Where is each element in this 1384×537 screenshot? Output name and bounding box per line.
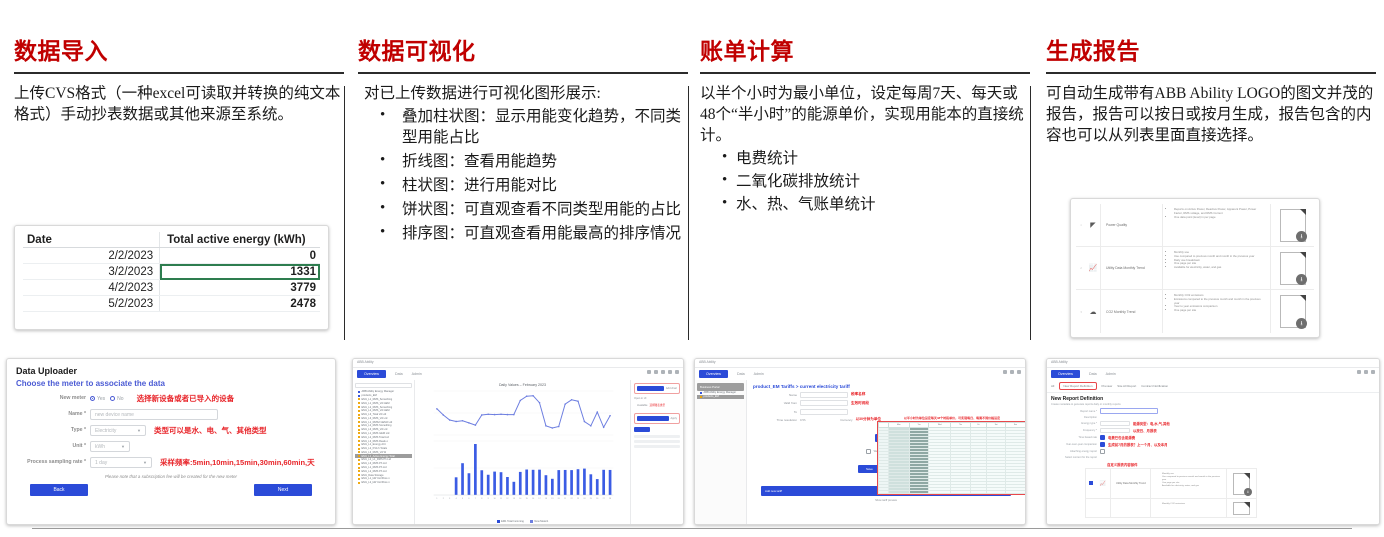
svg-text:5: 5 [462, 498, 464, 500]
report-description: Monthly CO2 emissions Emissions compared… [1162, 290, 1270, 333]
report-def-title: New Report Definition [1051, 396, 1379, 402]
tab-admin[interactable]: Admin [412, 372, 422, 376]
checkbox-select-row[interactable] [1086, 481, 1096, 486]
folder-icon [358, 391, 360, 393]
svg-text:23: 23 [577, 498, 580, 500]
tab-data[interactable]: Data [1089, 372, 1097, 376]
tree-item-label: EM1_L2_RMS Something [362, 424, 392, 427]
cell-energy: 2478 [160, 296, 320, 312]
energy-type-select[interactable] [1100, 421, 1130, 426]
svg-text:8: 8 [481, 498, 483, 500]
svg-text:20: 20 [558, 498, 561, 500]
tree-item-label: EM1_L2_RMS Total Ltd [362, 436, 389, 439]
label-currency: Currency [808, 418, 852, 422]
paragraph-generate-report: 可自动生成带有ABB Ability LOGO的图文并茂的报告，报告可以按日或按… [1046, 83, 1376, 146]
label-frequency: Frequency * [1051, 429, 1097, 432]
svg-text:15: 15 [526, 498, 529, 500]
datapoint-icon [358, 414, 360, 416]
tab-overview[interactable]: Overview [699, 370, 728, 378]
svg-text:16: 16 [532, 498, 535, 500]
svg-text:6: 6 [468, 498, 470, 500]
chevron-down-icon: ▼ [143, 460, 147, 465]
tab-data[interactable]: Data [395, 372, 403, 376]
label-attaching-report: Attaching energy report [1051, 450, 1097, 453]
table-row: 4/2/2023 3779 [23, 280, 320, 296]
report-thumbnail[interactable] [1226, 499, 1256, 517]
column-divider-3 [1030, 86, 1031, 340]
datapoint-icon [358, 432, 360, 434]
datapoint-icon [358, 478, 360, 480]
tab-overview[interactable]: Overview [357, 370, 386, 378]
uploader-actions: Back Next [16, 484, 326, 496]
table-row[interactable]: 2 📈 Utility Data Monthly Trend Monthly u… [1076, 247, 1314, 290]
svg-text:4: 4 [456, 498, 458, 500]
app-brand: ABB Ability [699, 360, 716, 364]
cell-energy: 0 [160, 248, 320, 264]
subscription-note: Please note that a subscription fee will… [16, 474, 326, 479]
power-quality-icon: ◤ [1086, 221, 1100, 229]
tariff-app: ABB Ability Overview Data Admin Business… [695, 359, 1025, 524]
chart-type-box[interactable]: Apply [634, 413, 680, 424]
form-row-frequency: Frequency * 以按日、月报表 [1051, 428, 1379, 433]
tariff-sidebar[interactable]: Business Portal ABB Ability Energy Manag… [695, 380, 747, 524]
tab-overview[interactable]: Overview [1051, 370, 1080, 378]
annotation-chart-type: 选择图表类型 [649, 403, 665, 407]
table-row[interactable]: 3 ☁ CO2 Monthly Trend Monthly CO2 emissi… [1076, 290, 1314, 333]
report-description: Reports on Active Power, Reactive Power,… [1162, 204, 1270, 246]
report-thumbnail[interactable]: ⭳ [1270, 204, 1314, 246]
download-icon[interactable]: ⭳ [1296, 318, 1307, 329]
data-uploader-screenshot: Data Uploader Choose the meter to associ… [6, 358, 336, 525]
available-label: Available [637, 404, 647, 407]
label-unit: Unit * [16, 443, 90, 450]
form-row-yoy-comparison: Year-over-year comparison 生成前7月的报表？上一个月、… [1051, 442, 1379, 447]
settings-icon[interactable] [1357, 370, 1361, 374]
svg-text:3: 3 [449, 498, 451, 500]
svg-text:26: 26 [596, 498, 599, 500]
label-time-resolution: Time resolution [753, 418, 797, 422]
svg-text:25: 25 [590, 498, 593, 500]
tree-group-label: products_EM [704, 395, 719, 398]
page-title-data-import: 数据导入 [14, 38, 344, 66]
report-thumbnail[interactable]: ⭳ [1226, 469, 1256, 498]
form-row-sampling-rate: Process sampling rate * 1 day ▼ 采样频率:5mi… [16, 457, 326, 468]
grid-cell[interactable] [950, 491, 970, 494]
tree-item-label: EM1_L1_RMS_Something [362, 398, 393, 401]
heading-divider [700, 72, 1030, 74]
chart-panel: Daily Values – February 2023 12345678910… [415, 380, 631, 524]
checkbox-attaching-report[interactable] [1100, 449, 1105, 454]
report-def-app: ABB Ability Overview Data Admin All New … [1047, 359, 1379, 524]
add-chart-label: Add chart [666, 387, 677, 390]
list-item: One data point (level) in per page [1174, 216, 1265, 220]
form-row-name: Name * new device name [16, 409, 326, 420]
app-body: Business Portal ABB Ability Energy Manag… [695, 380, 1025, 524]
row-number: 3 [1076, 310, 1086, 314]
list-item: 饼状图：可直观查看不同类型用能的占比 [380, 199, 688, 220]
radio-new-meter-yes[interactable] [90, 396, 95, 401]
app-body: ABB Ability Energy Manager products_EM E… [353, 380, 683, 524]
report-def-subtitle: Create metadata to generate reports dail… [1051, 403, 1379, 406]
label-sampling-rate: Process sampling rate * [16, 459, 90, 466]
tariff-field-row: Name 税率名称 [753, 392, 1019, 398]
column-header-date: Date [23, 232, 160, 248]
grid-cell[interactable] [888, 491, 909, 494]
datapoint-icon [358, 398, 360, 400]
app-toolbar-icons [1357, 370, 1375, 374]
datapoint-icon [358, 410, 360, 412]
next-button[interactable]: Next [254, 484, 312, 496]
add-chart-button[interactable] [637, 386, 664, 391]
unit-select[interactable]: kWh ▼ [90, 441, 130, 452]
tree-root-label: ABB Ability Energy Manager [704, 391, 737, 394]
heading-divider [14, 72, 344, 74]
uploader-subtitle: Choose the meter to associate the data [16, 379, 326, 388]
tree-item[interactable]: EM1_L2_kW Usr/Poss n [355, 481, 412, 485]
legend-swatch [497, 520, 500, 523]
svg-text:18: 18 [545, 498, 548, 500]
svg-text:2: 2 [443, 498, 444, 500]
tree-item-list: EM1_L1_RMS_SomethingEM1_L1_RMS_VA GEMEM1… [355, 398, 412, 485]
svg-text:11: 11 [500, 498, 502, 500]
tab-admin[interactable]: Admin [1106, 372, 1116, 376]
report-name-input[interactable] [1100, 408, 1158, 414]
report-name: Utility Data Monthly Trend [1110, 469, 1150, 498]
radio-label-no: No [117, 396, 123, 402]
grid-cell[interactable] [909, 491, 929, 494]
datapoint-icon [358, 474, 360, 476]
tariff-configuration-screenshot: ABB Ability Overview Data Admin Business… [694, 358, 1026, 525]
tariff-main: product_EM Tariffs > current electricity… [747, 380, 1025, 524]
grid-cell[interactable] [929, 491, 951, 494]
list-item: One page per site [1174, 309, 1265, 313]
combo-chart-svg: 1234567891011121314151617181920212223242… [420, 387, 625, 505]
tariff-title: product_EM Tariffs > current electricity… [753, 384, 1019, 389]
annotation-halfhour-grid: 以半小时为单位设定每天48个时段单价，可实现每日、每周不同价格设定 [877, 416, 1026, 420]
tariff-grid[interactable]: MonTueWedThuFriSatSun [877, 421, 1026, 495]
form-row-report-name: Report name * [1051, 408, 1379, 414]
column-bill-calculation: 账单计算 以半个小时为最小单位，设定每周7天、每天或48个“半小时”的能源单价，… [700, 38, 1030, 217]
label-description: Description [1051, 416, 1097, 419]
app-header: ABB Ability [1047, 359, 1379, 368]
datapoint-icon [358, 470, 360, 472]
trend-chart-icon: 📈 [1086, 264, 1100, 272]
back-button[interactable]: Back [30, 484, 88, 496]
svg-text:13: 13 [513, 498, 516, 500]
list-item: Available for electricity, water, and ga… [1162, 485, 1221, 488]
tab-all[interactable]: All [1051, 384, 1054, 388]
show-tariff-preview-link[interactable]: Show tariff preview [753, 499, 1019, 502]
excel-data-preview: Date Total active energy (kWh) 2/2/2023 … [14, 225, 329, 330]
tree-search-input[interactable] [355, 383, 412, 388]
bullet-list-visualization: 叠加柱状图：显示用能变化趋势，不同类型用能占比 折线图：查看用能趋势 柱状图：进… [358, 106, 688, 244]
annotation-yoy-comparison: 生成前7月的报表？上一个月、以及本月 [1108, 442, 1168, 447]
tree-item-label: EM1_L3_RMS_VA Ltd [362, 417, 388, 420]
list-item: 电费统计 [722, 148, 1030, 169]
report-catalog-screenshot: 1 ◤ Power Quality Reports on Active Powe… [1070, 198, 1320, 338]
form-row-time-based-rate: Time based rate 电费已包含能源费 [1051, 435, 1379, 440]
grid-icon[interactable] [661, 370, 665, 374]
svg-text:24: 24 [583, 498, 586, 500]
unit-value: kWh [95, 444, 105, 450]
report-name [1110, 499, 1150, 517]
available-row: Available 选择图表类型 [634, 400, 680, 410]
label-type: Type * [16, 427, 90, 434]
label-time-based-rate: Time based rate [1051, 436, 1097, 439]
tree-item-label: EM1_L2_RMS_VA GEM [362, 409, 390, 412]
tree-item-label: EM1_L2_RMS Ph Ltd [362, 470, 387, 473]
list-item: 折线图：查看用能趋势 [380, 151, 688, 172]
tree-item-label: EM1_L1_RMS Ph Ltd [362, 466, 387, 469]
table-row: 5/2/2023 2478 [23, 296, 320, 312]
folder-icon [358, 395, 360, 397]
chart-app: ABB Ability Overview Data Admin [353, 359, 683, 524]
valid-from-input[interactable] [800, 400, 848, 406]
label-new-meter: New meter [16, 395, 90, 402]
column-generate-report: 生成报告 可自动生成带有ABB Ability LOGO的图文并茂的报告，报告可… [1046, 38, 1376, 146]
report-thumbnail[interactable]: ⭳ [1270, 290, 1314, 333]
label-valid-from: Valid from [753, 401, 797, 405]
checkbox-time-based-rate[interactable] [1100, 435, 1105, 440]
cell-date: 3/2/2023 [23, 264, 160, 280]
tariff-grid-wrapper: 以半小时为单位设定每天48个时段单价，可实现每日、每周不同价格设定 MonTue… [877, 416, 1026, 495]
list-item: Monthly CO2 emissions [1162, 503, 1221, 506]
svg-text:28: 28 [609, 498, 612, 500]
tab-site-all-report[interactable]: Site All Report [1117, 384, 1136, 388]
valid-to-input[interactable] [800, 409, 848, 415]
grid-cell[interactable] [970, 491, 987, 494]
tree-item-label: EM1_L3_Total VA Ltd [362, 413, 387, 416]
report-description: Monthly use Use compared to previous mon… [1162, 247, 1270, 289]
form-row-new-meter: New meter Yes No 选择新设备或者已导入的设备 [16, 393, 326, 404]
app-header: ABB Ability [353, 359, 683, 368]
tree-item-label: EM1_L2_KVA h Totals [362, 447, 388, 450]
column-divider-1 [344, 86, 345, 340]
grid-cell[interactable] [879, 491, 889, 494]
datapoint-icon [358, 448, 360, 450]
option-row [634, 435, 680, 438]
chart-type-selected[interactable] [637, 416, 669, 421]
report-thumbnail[interactable]: ⭳ [1270, 247, 1314, 289]
svg-text:9: 9 [488, 498, 489, 500]
cell-energy-selected[interactable]: 1331 [160, 264, 320, 280]
chart-icon[interactable] [1010, 370, 1014, 374]
apply-label[interactable]: Apply [671, 417, 678, 420]
page-title-generate-report: 生成报告 [1046, 38, 1376, 66]
app-tab-bar: Overview Data Admin [1051, 370, 1116, 378]
chevron-down-icon: ▼ [137, 428, 141, 433]
tree-item-label: EM1_L2_kW Usr/Poss n [362, 481, 390, 484]
tariff-field-row: Valid from 生效时间段 [753, 400, 1019, 406]
annotation-frequency: 以按日、月报表 [1133, 428, 1157, 433]
type-select[interactable]: Electricity ▼ [90, 425, 146, 436]
report-definition-screenshot: ABB Ability Overview Data Admin All New … [1046, 358, 1380, 525]
cell-date: 5/2/2023 [23, 296, 160, 312]
datapoint-icon [358, 429, 360, 431]
grid-cell[interactable] [987, 491, 1005, 494]
grid-cell[interactable] [1005, 491, 1025, 494]
settings-icon[interactable] [1003, 370, 1007, 374]
label-yoy-comparison: Year-over-year comparison [1051, 443, 1097, 446]
annotation-energy-type: 能源类型：电,水,气,其他 [1133, 421, 1170, 426]
bullet-list-billing: 电费统计 二氧化碳排放统计 水、热、气账单统计 [700, 148, 1030, 215]
tab-data[interactable]: Data [737, 372, 745, 376]
annotation-valid-period: 生效时间段 [851, 401, 869, 406]
tab-contract-notification[interactable]: Contract Notification [1141, 384, 1168, 388]
report-def-tab-bar: All New Report Definition Preview Site A… [1047, 380, 1379, 393]
app-tab-bar: Overview Data Admin [357, 370, 422, 378]
download-icon[interactable]: ⭳ [1244, 488, 1252, 496]
chart-options-panel: Add chart Open in UI Available 选择图表类型 Ap… [631, 380, 683, 524]
app-toolbar-icons [1003, 370, 1021, 374]
add-chart-box[interactable]: Add chart [634, 383, 680, 394]
svg-text:22: 22 [571, 498, 573, 500]
label-energy-type: Energy type * [1051, 422, 1097, 425]
radio-label-yes: Yes [97, 396, 105, 402]
annotation-sampling-rates: 采样频率:5min,10min,15min,30min,60min,天 [160, 457, 315, 468]
co2-cloud-icon: ☁ [1086, 308, 1100, 316]
list-icon[interactable] [668, 370, 672, 374]
datapoint-icon [358, 459, 360, 461]
legend-swatch [530, 520, 533, 523]
tree-item-label: EM1_L1_Energy ACt [362, 443, 386, 446]
table-row[interactable]: Monthly CO2 emissions [1086, 499, 1256, 517]
annotation-time-based-rate: 电费已包含能源费 [1108, 435, 1135, 440]
datapoint-icon [358, 463, 360, 465]
chevron-down-icon: ▼ [121, 444, 125, 449]
report-description: Monthly CO2 emissions [1150, 499, 1226, 517]
folder-icon [700, 396, 702, 398]
legend-item-line: New Meter1 [530, 520, 548, 523]
slide-page: 数据导入 上传CVS格式（一种excel可读取并转换的纯文本格式）手动抄表数据或… [0, 0, 1384, 537]
option-row [634, 445, 680, 448]
list-item: 水、热、气账单统计 [722, 194, 1030, 215]
cell-date: 2/2/2023 [23, 248, 160, 264]
trend-chart-icon: 📈 [1096, 481, 1110, 487]
uploader-title: Data Uploader [16, 366, 326, 376]
table-row[interactable]: 📈 Utility Data Monthly Trend Monthly use… [1086, 469, 1256, 499]
datapoint-icon [358, 467, 360, 469]
tab-admin[interactable]: Admin [754, 372, 764, 376]
row-number: 2 [1076, 266, 1086, 270]
column-data-import: 数据导入 上传CVS格式（一种excel可读取并转换的纯文本格式）手动抄表数据或… [14, 38, 344, 125]
label-select-content: Select content for the report [1051, 456, 1097, 459]
datapoint-icon [358, 421, 360, 423]
column-divider-2 [688, 86, 689, 340]
svg-text:10: 10 [494, 498, 497, 500]
form-row-type: Type * Electricity ▼ 类型可以是水、电、气、其他类型 [16, 425, 326, 436]
frequency-select[interactable] [1100, 428, 1130, 433]
svg-text:19: 19 [551, 498, 553, 500]
svg-text:21: 21 [564, 498, 566, 500]
datapoint-icon [358, 425, 360, 427]
list-item: 二氧化碳排放统计 [722, 171, 1030, 192]
chart-icon[interactable] [654, 370, 658, 374]
device-tree[interactable]: ABB Ability Energy Manager products_EM E… [353, 380, 415, 524]
download-icon[interactable]: ⭳ [1296, 231, 1307, 242]
app-toolbar-icons [647, 370, 679, 374]
sidebar-header: Business Portal [697, 383, 744, 391]
name-input[interactable] [800, 392, 848, 398]
download-icon[interactable]: ⭳ [1296, 274, 1307, 285]
visualization-dashboard-screenshot: ABB Ability Overview Data Admin [352, 358, 684, 525]
report-description: Monthly use Use compared to previous mon… [1150, 469, 1226, 498]
tree-item-label: EM1_L1_kW Usr/Poss n [362, 477, 390, 480]
app-header: ABB Ability [695, 359, 1025, 368]
sampling-rate-select[interactable]: 1 day ▼ [90, 457, 152, 468]
grid-row[interactable] [879, 491, 1026, 494]
annotation-choose-device: 选择新设备或者已导入的设备 [137, 393, 235, 404]
paragraph-data-import: 上传CVS格式（一种excel可读取并转换的纯文本格式）手动抄表数据或其他来源至… [14, 83, 344, 125]
report-content-table[interactable]: 📈 Utility Data Monthly Trend Monthly use… [1085, 468, 1257, 518]
form-row-select-content: Select content for the report [1051, 456, 1379, 459]
name-input[interactable]: new device name [90, 409, 218, 420]
checkbox-weekday[interactable] [866, 449, 871, 454]
list-item: 排序图：可直观查看用能最高的排序情况 [380, 223, 688, 244]
report-name: Power Quality [1100, 204, 1162, 246]
datapoint-icon [358, 417, 360, 419]
app-brand: ABB Ability [1051, 360, 1068, 364]
add-new-tariff-label: Add new tariff [765, 489, 782, 493]
label-report-name: Report name * [1051, 410, 1097, 413]
radio-new-meter-no[interactable] [110, 396, 115, 401]
table-row[interactable]: 1 ◤ Power Quality Reports on Active Powe… [1076, 204, 1314, 247]
tab-preview[interactable]: Preview [1102, 384, 1113, 388]
column-data-visualization: 数据可视化 对已上传数据进行可视化图形展示: 叠加柱状图：显示用能变化趋势，不同… [358, 38, 688, 247]
user-icon[interactable] [1017, 370, 1021, 374]
svg-text:7: 7 [475, 498, 476, 500]
settings-icon[interactable] [647, 370, 651, 374]
tariff-field-row: To [753, 409, 1019, 415]
datapoint-icon [358, 482, 360, 484]
annotation-tariff-name: 税率名称 [851, 392, 865, 397]
label-name: Name * [16, 411, 90, 418]
tab-new-report-definition[interactable]: New Report Definition [1059, 382, 1096, 390]
svg-text:12: 12 [506, 498, 508, 500]
form-row-unit: Unit * kWh ▼ [16, 441, 326, 452]
form-row-description: Description [1051, 416, 1379, 419]
time-resolution-value: 0.5h [800, 418, 805, 422]
footer-divider [32, 528, 1352, 529]
document-icon [1233, 502, 1250, 515]
datapoint-icon [358, 451, 360, 453]
tree-group-node[interactable]: products_EM [697, 395, 744, 399]
user-icon[interactable] [675, 370, 679, 374]
svg-text:14: 14 [519, 498, 522, 500]
legend-item-bars: EM1 Total Incoming [497, 520, 524, 523]
annotation-custom-content: 自定义报表内容部件 [1107, 462, 1379, 467]
form-row-attaching-report: Attaching energy report [1051, 449, 1379, 454]
folder-icon [700, 392, 702, 394]
column-header-energy: Total active energy (kWh) [160, 232, 320, 248]
list-item: 柱状图：进行用能对比 [380, 175, 688, 196]
datapoint-icon [358, 444, 360, 446]
datapoint-icon [358, 436, 360, 438]
app-tab-bar: Overview Data Admin [699, 370, 764, 378]
chart-icon[interactable] [1364, 370, 1368, 374]
paragraph-data-visualization: 对已上传数据进行可视化图形展示: [358, 83, 688, 104]
chart-legend: EM1 Total Incoming New Meter1 [415, 520, 630, 523]
table-header-row: Date Total active energy (kWh) [23, 232, 320, 248]
svg-text:17: 17 [538, 498, 540, 500]
reset-button[interactable] [634, 427, 650, 432]
tree-item-label: EM1_L1_RMS GEM Ltd [362, 432, 390, 435]
cell-energy: 3779 [160, 280, 320, 296]
checkbox-yoy-comparison[interactable] [1100, 442, 1105, 447]
heading-divider [358, 72, 688, 74]
grid-icon[interactable] [1371, 370, 1375, 374]
option-row [634, 440, 680, 443]
